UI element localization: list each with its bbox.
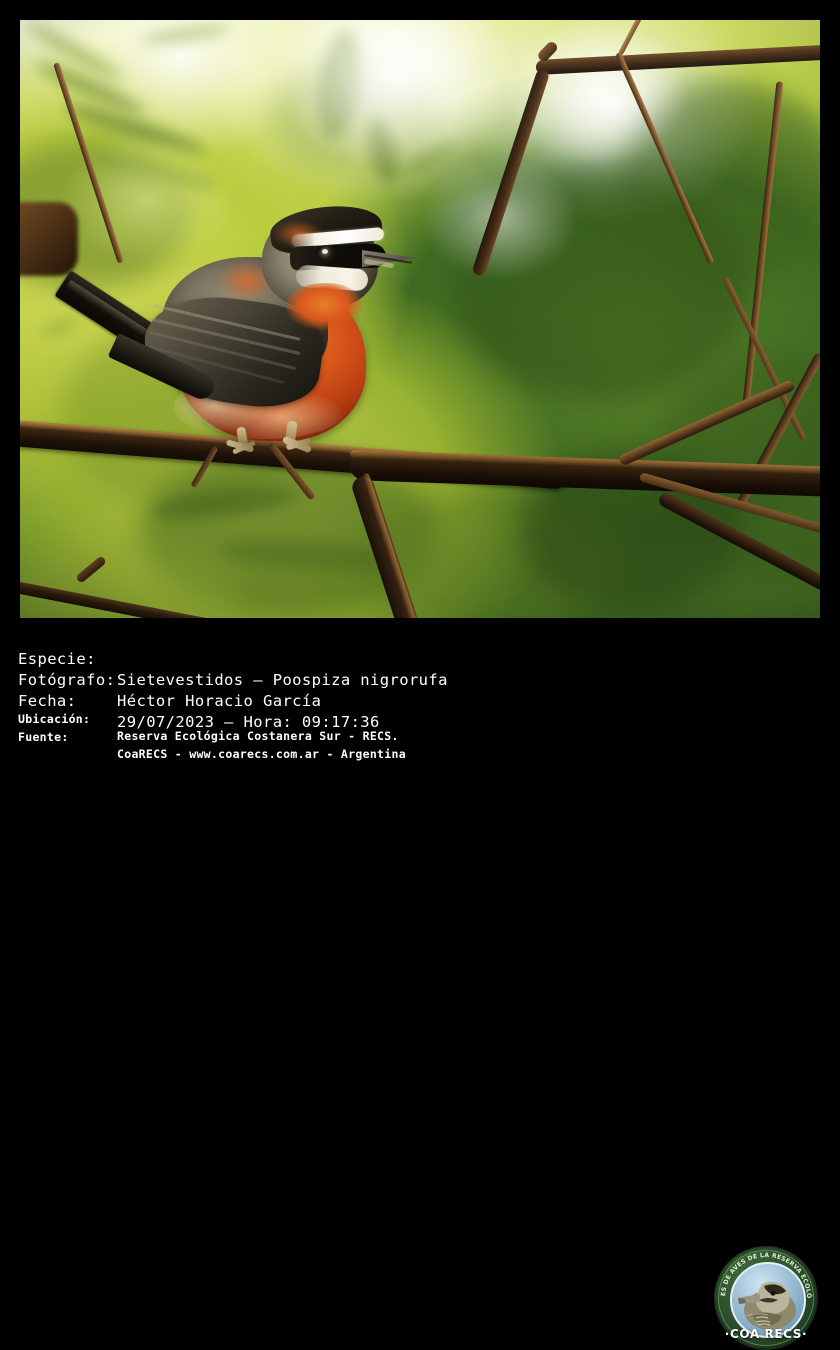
logo-wordmark: ·COA RECS·	[714, 1327, 818, 1341]
caption-value-especie: Sietevestidos — Poospiza nigrorufa	[117, 670, 448, 691]
screenshot-root: Especie: Sietevestidos — Poospiza nigror…	[0, 0, 840, 735]
duck-head-icon	[732, 1264, 804, 1336]
caption-value-fotografo: Héctor Horacio García	[117, 691, 321, 712]
vignette	[20, 20, 820, 618]
caption-label-fuente: Fuente:	[18, 729, 69, 746]
bird-photograph	[20, 20, 820, 618]
caption-block: Especie: Sietevestidos — Poospiza nigror…	[0, 620, 840, 735]
coa-recs-logo[interactable]: CLUB DE OBSERVADORES DE AVES DE LA RESER…	[714, 1246, 818, 1350]
caption-value-fuente: CoaRECS - www.coarecs.com.ar - Argentina	[117, 746, 406, 763]
caption-row-fuente: Fuente: CoaRECS - www.coarecs.com.ar - A…	[0, 712, 43, 780]
caption-value-ubicacion: Reserva Ecológica Costanera Sur - RECS.	[117, 728, 399, 745]
